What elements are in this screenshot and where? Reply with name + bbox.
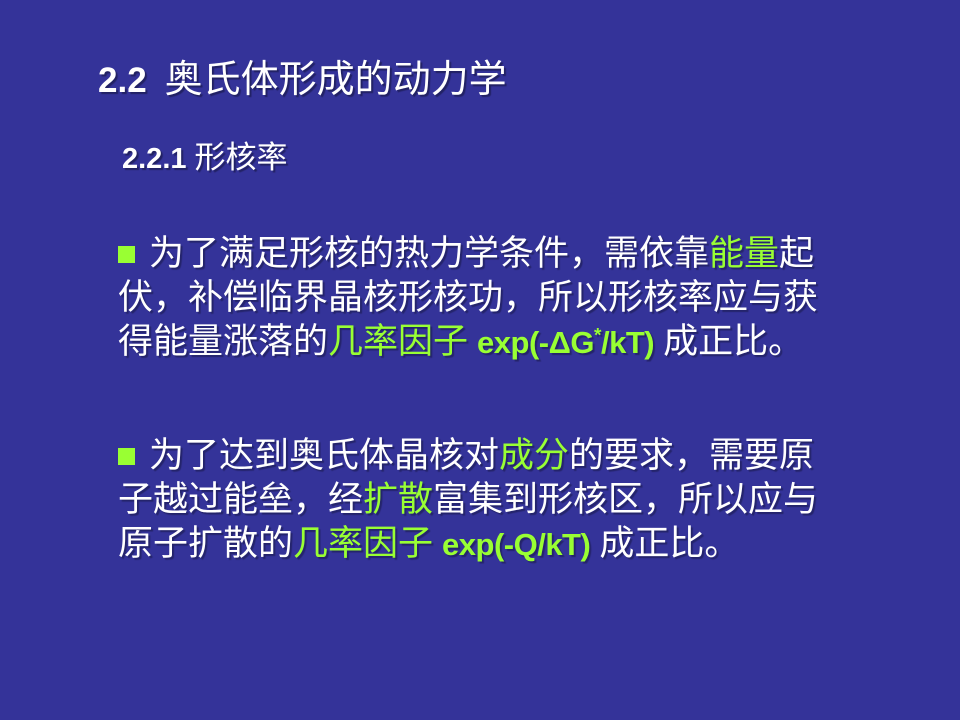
bullet-2-line-1-seg-3: 的要求，需要原 — [569, 436, 814, 475]
bullet-1-line-1-seg-2-highlight: 能量 — [709, 234, 779, 273]
bullet-1-line-1-seg-3: 起 — [779, 234, 814, 273]
section-subtitle-number: 2.2.1 — [122, 143, 187, 175]
bullet-1-line-1-seg-1: 为了满足形核的热力学条件，需依靠 — [149, 234, 709, 273]
bullet-2-line-2: 子越过能垒，经扩散富集到形核区，所以应与 — [118, 478, 918, 522]
bullet-1-line-1: 为了满足形核的热力学条件，需依靠能量起 — [118, 232, 918, 276]
bullet-2-formula: exp(-Q/kT) — [442, 527, 590, 562]
bullet-1-formula: exp(-ΔG*/kT) — [477, 325, 654, 360]
page-title-number: 2.2 — [98, 61, 147, 100]
bullet-1-formula-tail: /kT) — [601, 325, 654, 360]
page-title: 2.2奥氏体形成的动力学 — [98, 48, 507, 103]
section-subtitle: 2.2.1形核率 — [122, 132, 288, 177]
bullet-1-line-3: 得能量涨落的几率因子exp(-ΔG*/kT)成正比。 — [118, 320, 918, 365]
bullet-2-line-2-seg-2-highlight: 扩散 — [363, 480, 433, 519]
bullet-2-formula-base: exp(-Q/kT) — [442, 527, 590, 562]
bullet-2-line-2-seg-3: 富集到形核区，所以应与 — [433, 480, 818, 519]
page-title-text: 奥氏体形成的动力学 — [165, 59, 507, 101]
bullet-2-line-3-seg-1: 原子扩散的 — [118, 524, 293, 563]
bullet-1-line-3-seg-1: 得能量涨落的 — [118, 322, 328, 361]
bullet-2-line-1: 为了达到奥氏体晶核对成分的要求，需要原 — [118, 434, 918, 478]
bullet-2-line-1-seg-2-highlight: 成分 — [499, 436, 569, 475]
slide-canvas: 2.2奥氏体形成的动力学 2.2.1形核率 为了满足形核的热力学条件，需依靠能量… — [0, 0, 960, 720]
bullet-1-line-3-seg-4: 成正比。 — [663, 322, 803, 361]
green-square-bullet-icon — [118, 246, 135, 263]
section-subtitle-text: 形核率 — [195, 140, 288, 175]
bullet-block-2: 为了达到奥氏体晶核对成分的要求，需要原 子越过能垒，经扩散富集到形核区，所以应与… — [118, 434, 918, 567]
bullet-2-line-3: 原子扩散的几率因子exp(-Q/kT)成正比。 — [118, 522, 918, 567]
bullet-1-line-2-seg-1: 伏，补偿临界晶核形核功，所以形核率应与获 — [118, 278, 818, 317]
bullet-2-line-1-seg-1: 为了达到奥氏体晶核对 — [149, 436, 499, 475]
bullet-1-formula-base: exp(-ΔG — [477, 325, 594, 360]
bullet-1-line-2: 伏，补偿临界晶核形核功，所以形核率应与获 — [118, 276, 918, 320]
green-square-bullet-icon — [118, 448, 135, 465]
bullet-1-formula-superscript: * — [594, 326, 601, 347]
bullet-2-line-2-seg-1: 子越过能垒，经 — [118, 480, 363, 519]
bullet-2-line-3-seg-2-highlight: 几率因子 — [293, 524, 433, 563]
bullet-block-1: 为了满足形核的热力学条件，需依靠能量起 伏，补偿临界晶核形核功，所以形核率应与获… — [118, 232, 918, 365]
bullet-1-line-3-seg-2-highlight: 几率因子 — [328, 322, 468, 361]
bullet-2-line-3-seg-4: 成正比。 — [599, 524, 739, 563]
